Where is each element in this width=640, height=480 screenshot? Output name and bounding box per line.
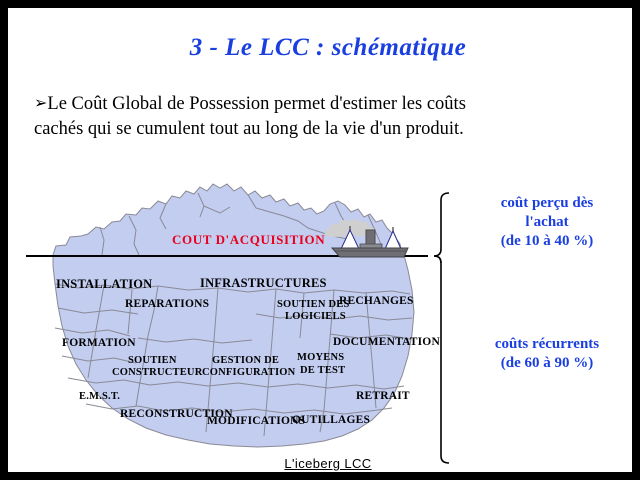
iceberg-cost-label: MODIFICATIONS — [207, 416, 305, 427]
iceberg-cost-label: DOCUMENTATION — [333, 337, 440, 348]
body-line-1: Le Coût Global de Possession permet d'es… — [47, 94, 466, 114]
figure-caption: L'iceberg LCC — [8, 456, 640, 471]
annotation-upper-line1: coût perçu dès — [463, 194, 631, 213]
ship-icon — [332, 226, 408, 257]
iceberg-cost-label: E.M.S.T. — [79, 391, 120, 402]
body-paragraph: ➢Le Coût Global de Possession permet d'e… — [34, 90, 594, 142]
annotation-upper: coût perçu dès l'achat (de 10 à 40 %) — [463, 194, 631, 251]
iceberg-cost-label: INSTALLATION — [56, 279, 152, 290]
bracket-lower — [434, 256, 449, 463]
body-line-2: cachés qui se cumulent tout au long de l… — [34, 119, 464, 139]
iceberg-cost-label: RETRAIT — [356, 391, 410, 402]
slide-canvas: 3 - Le LCC : schématique ➢Le Coût Global… — [0, 0, 640, 480]
arrow-bullet-icon: ➢ — [34, 93, 47, 112]
iceberg-cost-label: FORMATION — [62, 338, 136, 349]
annotation-upper-line3: (de 10 à 40 %) — [463, 232, 631, 251]
iceberg-cost-label: REPARATIONS — [125, 299, 209, 310]
iceberg-cost-label: SOUTIEN DES — [277, 299, 350, 310]
annotation-lower-line2: (de 60 à 90 %) — [463, 354, 631, 373]
annotation-upper-line2: l'achat — [463, 213, 631, 232]
iceberg-cost-label: INFRASTRUCTURES — [200, 278, 327, 289]
iceberg-cost-label: GESTION DE — [212, 355, 279, 366]
label-cout-acquisition: COUT D'ACQUISITION — [172, 234, 325, 245]
iceberg-cost-label: DE TEST — [300, 365, 345, 376]
smoke — [325, 219, 375, 237]
iceberg-cost-label: RECHANGES — [339, 296, 414, 307]
annotation-lower: coûts récurrents (de 60 à 90 %) — [463, 335, 631, 373]
iceberg-cost-label: CONSTRUCTEUR — [112, 367, 203, 378]
iceberg-cost-label: SOUTIEN — [128, 355, 177, 366]
page-title: 3 - Le LCC : schématique — [8, 34, 640, 62]
iceberg-cost-label: MOYENS — [297, 352, 344, 363]
iceberg-cost-label: OUTILLAGES — [292, 415, 370, 426]
iceberg-body — [53, 184, 414, 447]
iceberg-cost-label: CONFIGURATION — [202, 367, 295, 378]
bracket-upper — [434, 193, 449, 263]
annotation-lower-line1: coûts récurrents — [463, 335, 631, 354]
iceberg-cost-label: LOGICIELS — [285, 311, 346, 322]
